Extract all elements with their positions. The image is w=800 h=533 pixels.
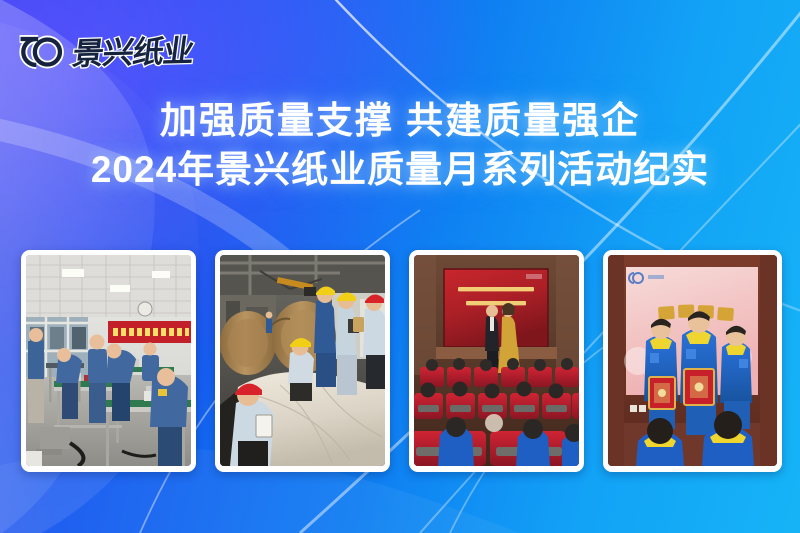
photo-frame-3[interactable]: 第二十六届质量成果发布大会 暨质量月活动表彰大会 报告厅大会现场，主持人在红色投… xyxy=(409,250,584,472)
photo-frame-1[interactable]: 员工在培训车间工作台上进行技能比赛，墙上悬挂红色横幅 xyxy=(21,250,196,472)
photo-gallery: 员工在培训车间工作台上进行技能比赛，墙上悬挂红色横幅 xyxy=(21,250,781,472)
photo-skills-competition-workshop xyxy=(26,255,191,466)
headline-line-1: 加强质量支撑 共建质量强企 xyxy=(0,98,800,143)
photo-paper-roll-quality-inspection xyxy=(220,255,385,466)
photo-quality-conference-auditorium xyxy=(414,255,579,466)
photo-4-backdrop-text: 优秀质量奖 xyxy=(608,466,609,467)
photo-4-caption: 三名身穿蓝黄工装的员工手持红色奖牌在粉色背景板前合影 xyxy=(608,466,609,467)
poster-headline: 加强质量支撑 共建质量强企 2024年景兴纸业质量月系列活动纪实 xyxy=(0,98,800,193)
photo-frame-4[interactable]: 优秀质量奖 三名身穿蓝黄工装的员工手持红色奖牌在粉色背景板前合影 xyxy=(603,250,782,472)
jc-double-ring-monogram-icon xyxy=(14,30,66,74)
photo-award-presentation-ceremony xyxy=(608,255,777,466)
photo-3-caption: 报告厅大会现场，主持人在红色投影屏前，台下观众坐满红色座椅 xyxy=(414,466,415,467)
headline-line-2: 2024年景兴纸业质量月系列活动纪实 xyxy=(0,147,800,193)
photo-frame-2[interactable]: 车间内员工佩戴黄色、红色安全帽检查大型纸卷与纸张质量 xyxy=(215,250,390,472)
photo-1-caption: 员工在培训车间工作台上进行技能比赛，墙上悬挂红色横幅 xyxy=(26,466,27,467)
photo-2-caption: 车间内员工佩戴黄色、红色安全帽检查大型纸卷与纸张质量 xyxy=(220,466,221,467)
brand-logo: 景兴纸业 xyxy=(14,30,193,74)
poster-canvas: 景兴纸业 加强质量支撑 共建质量强企 2024年景兴纸业质量月系列活动纪实 xyxy=(0,0,800,533)
photo-3-screen-line-1: 第二十六届质量成果发布大会 xyxy=(414,466,415,467)
brand-wordmark: 景兴纸业 xyxy=(71,35,196,69)
photo-3-screen-line-2: 暨质量月活动表彰大会 xyxy=(414,466,415,467)
